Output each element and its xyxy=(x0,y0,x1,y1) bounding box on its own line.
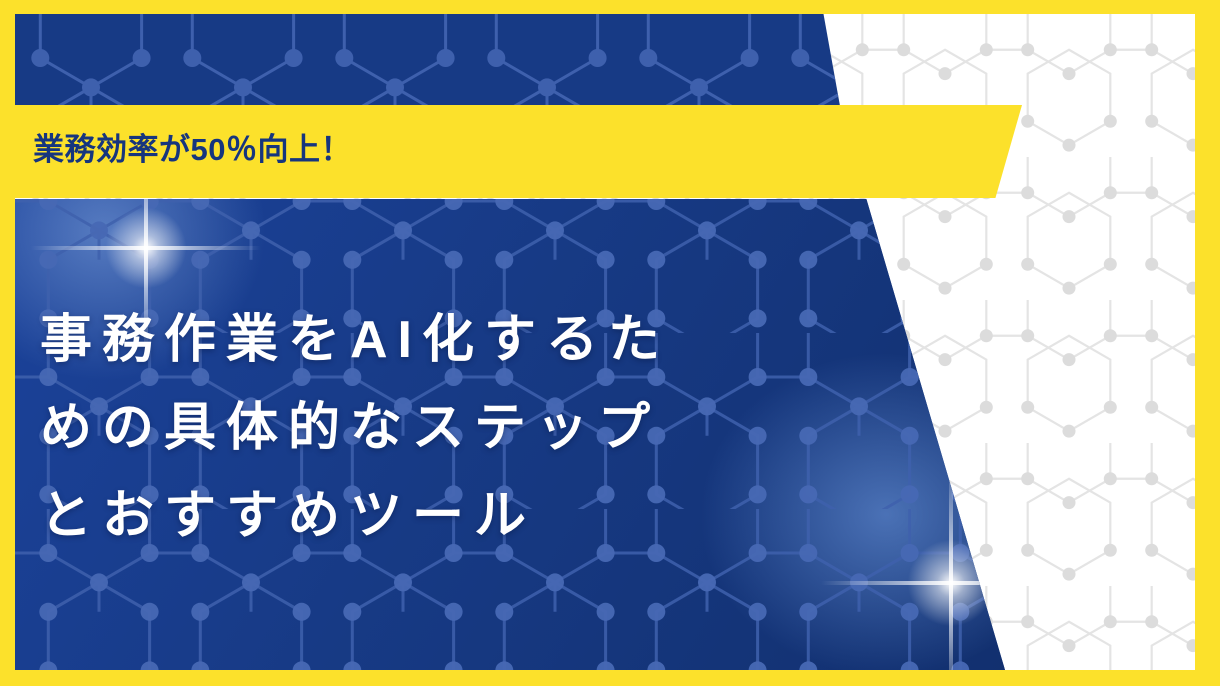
navy-top-bar xyxy=(15,14,840,106)
title-line-3: とおすすめツール xyxy=(40,472,670,560)
page-title: 事務作業をAI化するた めの具体的なステップ とおすすめツール xyxy=(40,296,670,560)
title-line-2: めの具体的なステップ xyxy=(40,384,670,472)
hexagon-network-pattern-icon xyxy=(15,14,840,106)
banner-root: 業務効率が50％向上！ 事務作業をAI化するた めの具体的なステップ とおすすめ… xyxy=(0,0,1220,686)
title-line-1: 事務作業をAI化するた xyxy=(40,296,670,384)
subtitle-text: 業務効率が50％向上！ xyxy=(33,128,352,172)
